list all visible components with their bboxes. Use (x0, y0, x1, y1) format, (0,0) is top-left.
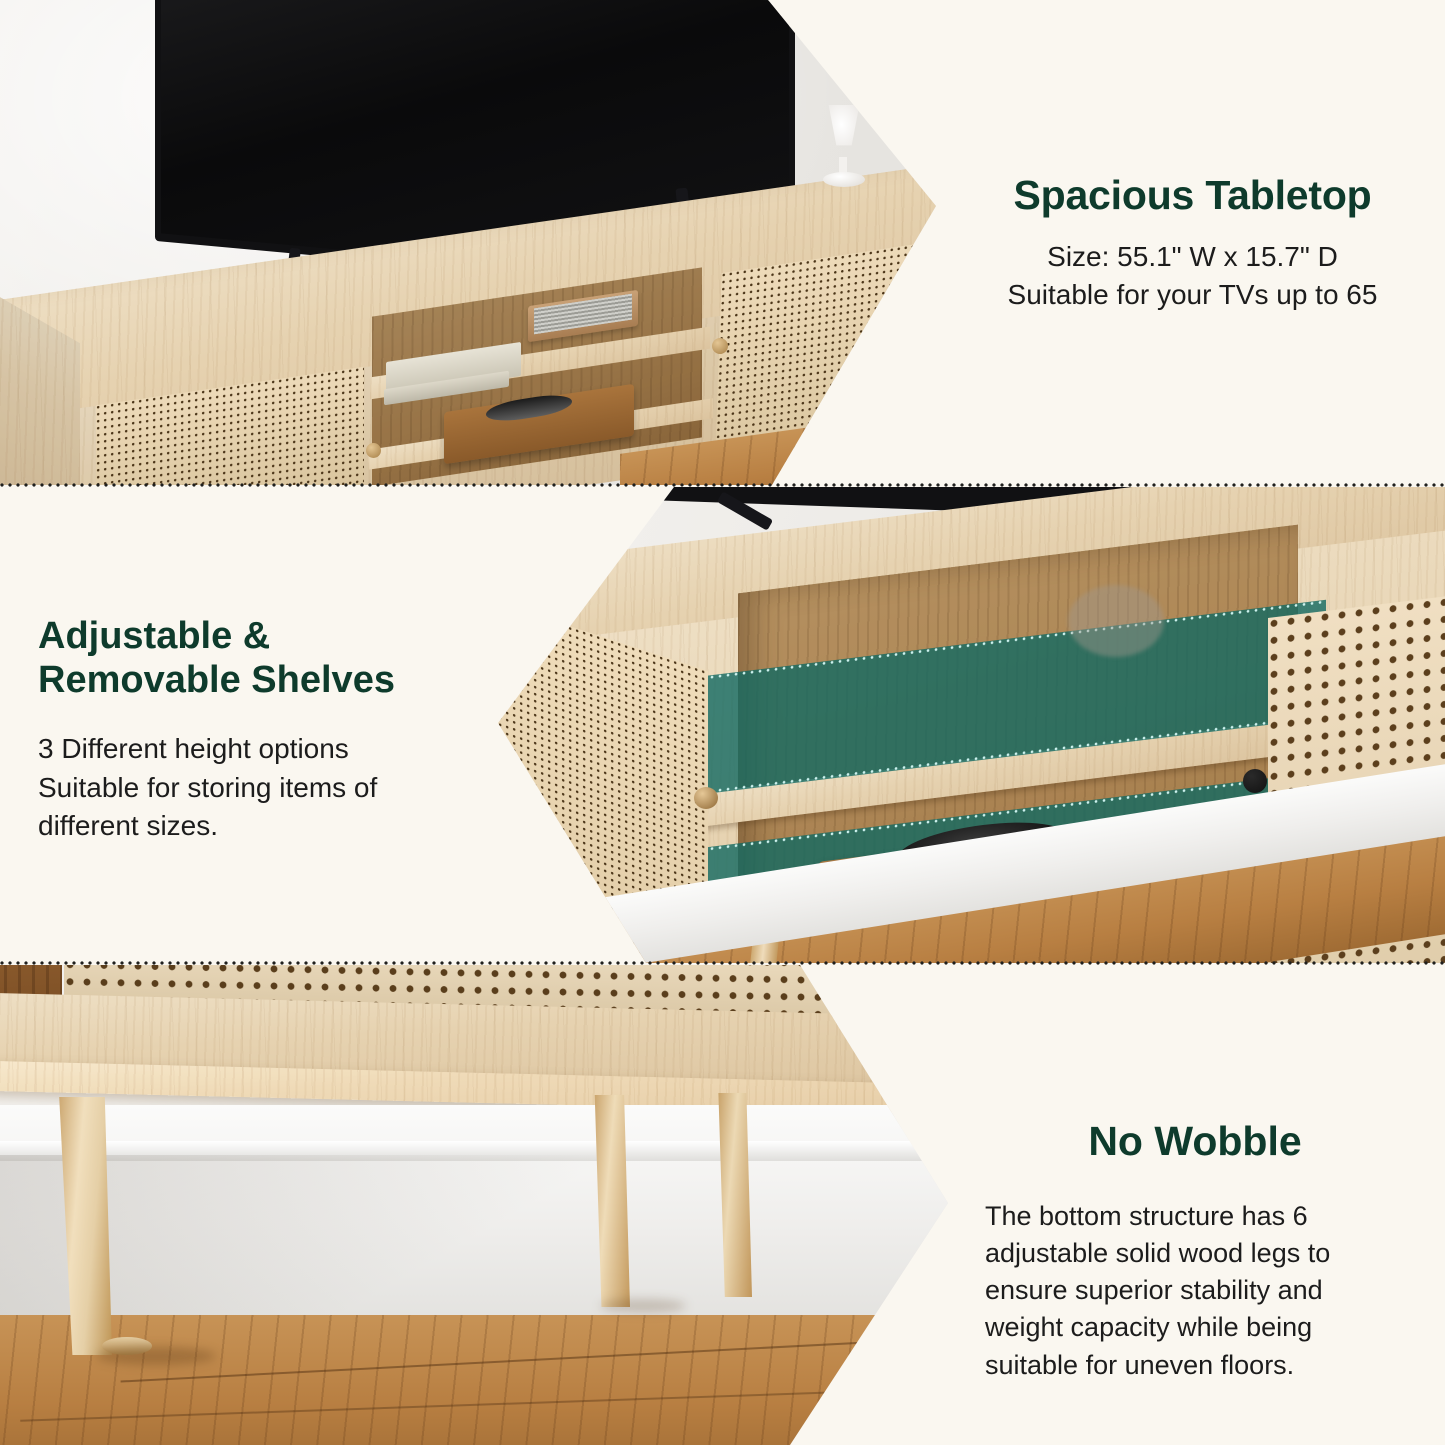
dotted-divider-top (0, 483, 1445, 488)
photo-shelves (498, 487, 1445, 963)
cabinet-door-knob-right (1243, 769, 1267, 793)
scene-legs (0, 965, 950, 1445)
dotted-divider-bottom (0, 961, 1445, 966)
body-line-3: different sizes. (38, 807, 468, 846)
cabinet-door-knob-left (366, 443, 381, 458)
text-block-tabletop: Spacious Tabletop Size: 55.1" W x 15.7" … (940, 172, 1445, 315)
body-line-1: 3 Different height options (38, 730, 468, 769)
body-line-5: suitable for uneven floors. (985, 1347, 1405, 1384)
text-block-no-wobble: No Wobble The bottom structure has 6 adj… (985, 1118, 1405, 1384)
text-block-shelves: Adjustable & Removable Shelves 3 Differe… (38, 614, 468, 846)
body-line-4: weight capacity while being (985, 1309, 1405, 1346)
body-adjustable-shelves: 3 Different height options Suitable for … (38, 730, 468, 846)
photo-tabletop (0, 0, 940, 485)
body-line-2: Suitable for storing items of (38, 769, 468, 808)
panel-no-wobble: No Wobble The bottom structure has 6 adj… (0, 965, 1445, 1445)
title-line-1: Adjustable & (38, 615, 270, 657)
body-line-1: Size: 55.1" W x 15.7" D (940, 238, 1445, 277)
cabinet-leg-primary-shadow (96, 1347, 216, 1365)
body-line-2: adjustable solid wood legs to (985, 1235, 1405, 1272)
body-line-1: The bottom structure has 6 (985, 1198, 1405, 1235)
cabinet-door-knob-right (712, 338, 728, 354)
scene-tabletop (0, 0, 940, 485)
body-no-wobble: The bottom structure has 6 adjustable so… (985, 1198, 1405, 1384)
title-spacious-tabletop: Spacious Tabletop (940, 172, 1445, 220)
decor-glass-base (823, 172, 865, 187)
wall-shadow-circle (1068, 585, 1164, 657)
scene-shelves (498, 487, 1445, 963)
title-line-2: Removable Shelves (38, 659, 395, 701)
cabinet-leg-secondary-shadow (600, 1299, 686, 1313)
panel-spacious-tabletop: Spacious Tabletop Size: 55.1" W x 15.7" … (0, 0, 1445, 485)
body-line-2: Suitable for your TVs up to 65 (940, 276, 1445, 315)
title-no-wobble: No Wobble (985, 1118, 1405, 1166)
cabinet-door-knob-left (694, 787, 718, 809)
infographic-sheet: Spacious Tabletop Size: 55.1" W x 15.7" … (0, 0, 1445, 1445)
panel-adjustable-shelves: Adjustable & Removable Shelves 3 Differe… (0, 487, 1445, 963)
photo-legs (0, 965, 950, 1445)
body-line-3: ensure superior stability and (985, 1272, 1405, 1309)
body-spacious-tabletop: Size: 55.1" W x 15.7" D Suitable for you… (940, 238, 1445, 315)
title-adjustable-shelves: Adjustable & Removable Shelves (38, 614, 468, 702)
